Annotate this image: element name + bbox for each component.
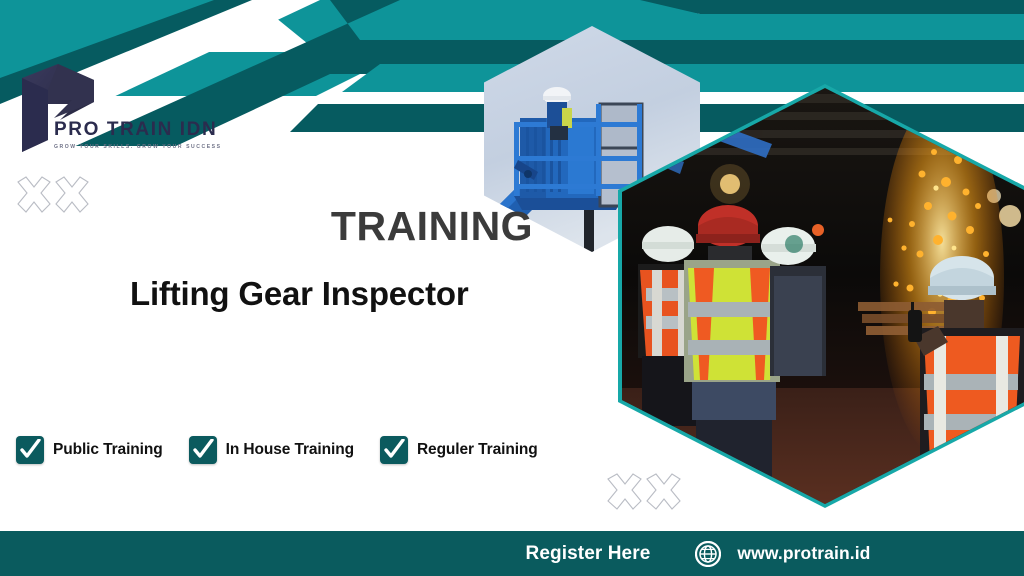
training-option-public[interactable]: Public Training [16,436,163,464]
training-option-reguler[interactable]: Reguler Training [380,436,538,464]
brand-logo[interactable]: PRO TRAIN IDN GROW YOUR SKILLS. GROW YOU… [14,62,234,170]
globe-icon [695,541,721,567]
training-option-label: Public Training [53,441,163,459]
footer-bar: Register Here www.protrain.id [0,531,1024,576]
training-option-in-house[interactable]: In House Training [189,436,354,464]
training-options-list: Public Training In House Training Regule… [16,436,564,464]
x-cross-outline-icon-group-left [14,176,92,218]
checkbox-checked-icon[interactable] [189,436,217,464]
training-option-label: Reguler Training [417,441,538,459]
logo-tagline: GROW YOUR SKILLS. GROW YOUR SUCCESS [54,144,234,150]
website-url[interactable]: www.protrain.id [737,543,870,564]
checkbox-checked-icon[interactable] [16,436,44,464]
training-option-label: In House Training [226,441,354,459]
page-eyebrow: TRAINING [222,206,642,247]
x-cross-outline-icon-group-lower [604,472,684,514]
footer-content: Register Here www.protrain.id [526,541,871,567]
page-title: Lifting Gear Inspector [130,276,730,312]
register-here-label[interactable]: Register Here [526,543,651,565]
checkbox-checked-icon[interactable] [380,436,408,464]
poster-canvas: PRO TRAIN IDN GROW YOUR SKILLS. GROW YOU… [0,0,1024,576]
logo-name: PRO TRAIN IDN [54,120,234,139]
logo-text: PRO TRAIN IDN GROW YOUR SKILLS. GROW YOU… [54,120,234,150]
